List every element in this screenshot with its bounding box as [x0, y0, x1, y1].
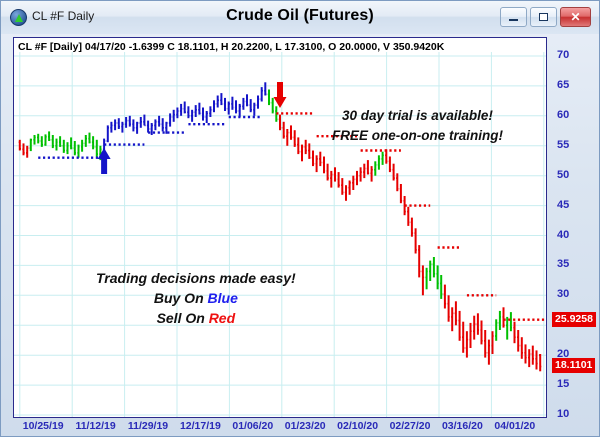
chart-panel[interactable]: CL #F [Daily] 04/17/20 -1.6399 C 18.1101…	[13, 37, 547, 418]
promo-line-2: FREE one-on-one training!	[332, 128, 503, 143]
window-titlebar: CL #F Daily Crude Oil (Futures) ✕	[1, 1, 599, 34]
sell-on-label: Sell On	[157, 310, 209, 326]
red-word: Red	[209, 310, 235, 326]
y-axis-tick: 65	[557, 79, 569, 91]
y-axis-tick: 10	[557, 408, 569, 420]
x-axis-tick: 04/01/20	[494, 420, 535, 432]
y-axis-tick: 30	[557, 288, 569, 300]
blue-word: Blue	[208, 290, 238, 306]
date-axis: 10/25/1911/12/1911/29/1912/17/1901/06/20…	[13, 419, 547, 435]
x-axis-tick: 10/25/19	[23, 420, 64, 432]
red-down-arrow	[274, 82, 287, 108]
slogan-line-2: Buy On Blue	[96, 288, 296, 308]
y-axis-tick: 45	[557, 199, 569, 211]
y-axis-tick: 15	[557, 378, 569, 390]
y-axis-tick: 40	[557, 229, 569, 241]
maximize-button[interactable]	[530, 7, 557, 27]
slogan-line-1: Trading decisions made easy!	[96, 270, 296, 286]
price-label-badge: 18.1101	[552, 358, 595, 373]
chart-window: CL #F Daily Crude Oil (Futures) ✕ CL #F …	[0, 0, 600, 437]
y-axis-tick: 70	[557, 49, 569, 61]
close-button[interactable]: ✕	[560, 7, 591, 27]
price-label-badge: 25.9258	[552, 312, 596, 327]
price-bars	[14, 38, 546, 417]
x-axis-tick: 12/17/19	[180, 420, 221, 432]
y-axis-tick: 50	[557, 169, 569, 181]
promo-line-1: 30 day trial is available!	[342, 108, 493, 123]
minimize-button[interactable]	[500, 7, 527, 27]
x-axis-tick: 11/29/19	[128, 420, 168, 432]
x-axis-tick: 02/10/20	[337, 420, 378, 432]
x-axis-tick: 01/23/20	[285, 420, 326, 432]
plot-area[interactable]	[14, 38, 546, 417]
maximize-icon	[531, 8, 556, 26]
slogan-block: Trading decisions made easy! Buy On Blue…	[96, 268, 296, 328]
y-axis-tick: 55	[557, 139, 569, 151]
x-axis-tick: 11/12/19	[75, 420, 115, 432]
close-icon: ✕	[561, 8, 590, 26]
x-axis-tick: 03/16/20	[442, 420, 483, 432]
quote-status-line: CL #F [Daily] 04/17/20 -1.6399 C 18.1101…	[18, 41, 444, 53]
x-axis-tick: 01/06/20	[232, 420, 273, 432]
minimize-icon	[501, 8, 526, 26]
buy-on-label: Buy On	[154, 290, 208, 306]
y-axis-tick: 35	[557, 258, 569, 270]
price-axis: 7065605550454035302520151025.925818.1101	[551, 37, 600, 418]
slogan-line-3: Sell On Red	[96, 308, 296, 328]
x-axis-tick: 02/27/20	[390, 420, 431, 432]
y-axis-tick: 60	[557, 109, 569, 121]
